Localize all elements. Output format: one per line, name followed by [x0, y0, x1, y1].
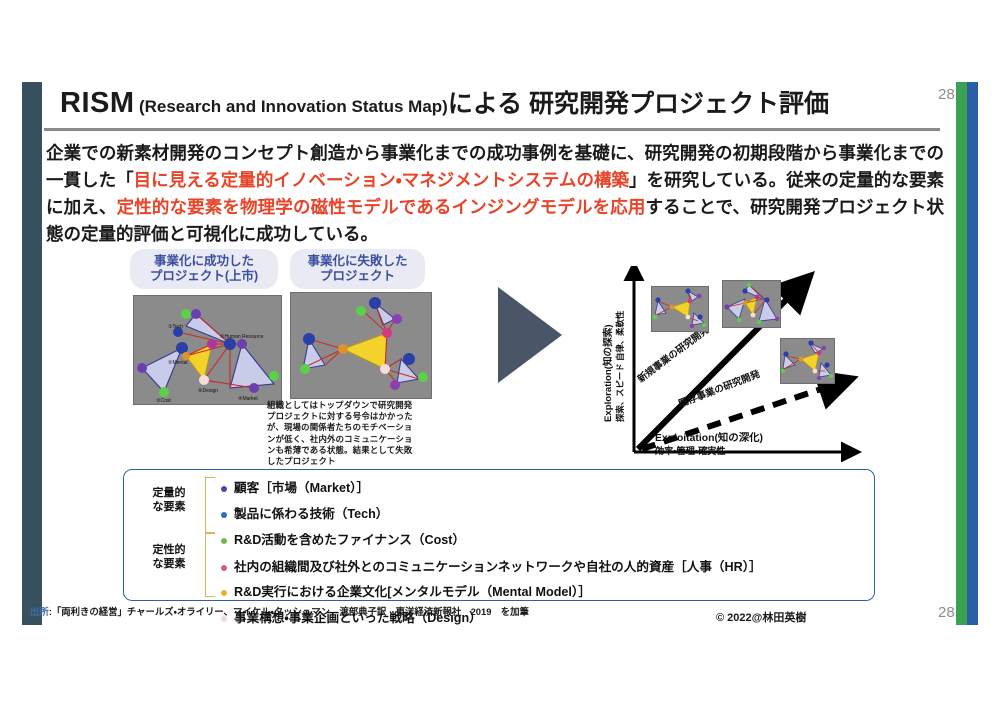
- factor-bullet-mental-model-icon: [221, 590, 227, 596]
- factor-item-hr: 社内の組織間及び社外とのコミュニケーションネットワークや自社の人的資産［人事（H…: [221, 560, 762, 574]
- factor-item-market: 顧客［市場（Market）］: [221, 481, 369, 495]
- factor-group-qualitative: 定性的 な要素: [138, 543, 200, 571]
- copyright-note: © 2022@林田英樹: [716, 609, 806, 625]
- right-accent-bar-blue: [967, 82, 978, 625]
- slide-root: RISM (Research and Innovation Status Map…: [0, 0, 1000, 709]
- factor-item-mental-model: R&D実行における企業文化[メンタルモデル（Mental Model）］: [221, 585, 591, 599]
- title-expansion: (Research and Innovation Status Map): [139, 97, 448, 116]
- factor-brace-quantitative: [205, 477, 215, 533]
- title-acronym: RISM: [60, 87, 135, 119]
- factor-brace-qualitative: [205, 533, 215, 597]
- source-note: 出所:「両利きの経営」チャールズ・オライリー、マイケル・タッシュマン 渡部典子訳…: [30, 604, 529, 618]
- right-accent-bar-green: [956, 82, 967, 625]
- source-note-label: 出所: [30, 606, 49, 617]
- chart-y-axis-label-main: Exploration(知の探索): [603, 272, 615, 422]
- chart-x-axis-label-sub: 効率・管理・確実性: [655, 445, 845, 457]
- source-note-text: :「両利きの経営」チャールズ・オライリー、マイケル・タッシュマン 渡部典子訳 東…: [49, 606, 529, 617]
- factor-bullet-hr-icon: [221, 565, 227, 571]
- factor-item-hr-label: 社内の組織間及び社外とのコミュニケーションネットワークや自社の人的資産［人事（H…: [234, 560, 762, 574]
- chart-y-axis-label-sub: 探索、スピード 自律、柔軟性: [615, 272, 626, 422]
- svg-text:③Cost: ③Cost: [156, 398, 171, 404]
- factor-group-quantitative: 定量的 な要素: [138, 486, 200, 514]
- factor-item-cost: R&D活動を含めたファイナンス（Cost）: [221, 533, 465, 547]
- title-underline: [44, 128, 940, 131]
- figure-label-fail-line2: プロジェクト: [320, 269, 395, 283]
- chart-x-axis-label-main: Exploitation(知の深化): [655, 432, 845, 445]
- title-japanese: による 研究開発プロジェクト評価: [448, 90, 829, 118]
- chart-y-axis-label: Exploration(知の探索) 探索、スピード 自律、柔軟性: [603, 272, 629, 422]
- svg-text:①Tech: ①Tech: [168, 324, 183, 330]
- network-diagram-fail: [290, 292, 432, 399]
- factor-group-quantitative-line2: な要素: [153, 501, 186, 513]
- chart-thumbnail-1: [651, 286, 709, 332]
- figure-label-fail-line1: 事業化に失敗した: [307, 254, 407, 268]
- figure-caption-fail: 組織としてはトップダウンで研究開発プロジェクトに対する号令はかかったが、現場の関…: [267, 400, 419, 467]
- page-number-bottom: 28: [938, 604, 955, 621]
- factor-item-tech: 製品に係わる技術（Tech）: [221, 507, 388, 521]
- figure-label-success: 事業化に成功した プロジェクト(上市): [130, 249, 278, 289]
- factor-group-quantitative-line1: 定量的: [153, 487, 186, 499]
- factor-group-qualitative-line1: 定性的: [153, 544, 186, 556]
- svg-text:④Market: ④Market: [238, 396, 258, 402]
- chart-x-axis-label: Exploitation(知の深化) 効率・管理・確実性: [655, 432, 845, 457]
- factor-bullet-tech-icon: [221, 512, 227, 518]
- svg-text:②Human Resource: ②Human Resource: [220, 334, 264, 340]
- factor-group-qualitative-line2: な要素: [153, 558, 186, 570]
- body-paragraph: 企業での新素材開発のコンセプト創造から事業化までの成功事例を基礎に、研究開発の初…: [46, 140, 944, 248]
- factor-bullet-cost-icon: [221, 538, 227, 544]
- page-title: RISM (Research and Innovation Status Map…: [60, 84, 940, 124]
- left-accent-bar: [22, 82, 42, 625]
- figure-label-success-line1: 事業化に成功した: [154, 254, 254, 268]
- svg-text:⑥Design: ⑥Design: [198, 388, 218, 394]
- body-highlight-2: 定性的な要素を物理学の磁性モデルであるインジングモデルを応用: [117, 197, 646, 217]
- factor-item-cost-label: R&D活動を含めたファイナンス（Cost）: [234, 533, 465, 547]
- svg-text:⑤Mental: ⑤Mental: [168, 360, 188, 366]
- factor-item-mental-model-label: R&D実行における企業文化[メンタルモデル（Mental Model）］: [234, 585, 591, 599]
- factor-item-tech-label: 製品に係わる技術（Tech）: [234, 507, 388, 521]
- transition-arrow-icon: [496, 283, 562, 387]
- factor-bullet-market-icon: [221, 486, 227, 492]
- page-number-top: 28: [938, 86, 955, 103]
- factor-item-market-label: 顧客［市場（Market）］: [234, 481, 369, 495]
- network-diagram-success: ①Tech ⑤Mental ②Human Resource ⑥Design ③C…: [133, 295, 282, 405]
- figure-label-success-line2: プロジェクト(上市): [150, 269, 258, 283]
- chart-thumbnail-3: [780, 338, 835, 384]
- body-highlight-1: 目に見える定量的イノベーション・マネジメントシステムの構築: [134, 170, 629, 190]
- chart-thumbnail-2: [722, 280, 781, 328]
- figure-label-fail: 事業化に失敗した プロジェクト: [290, 249, 425, 289]
